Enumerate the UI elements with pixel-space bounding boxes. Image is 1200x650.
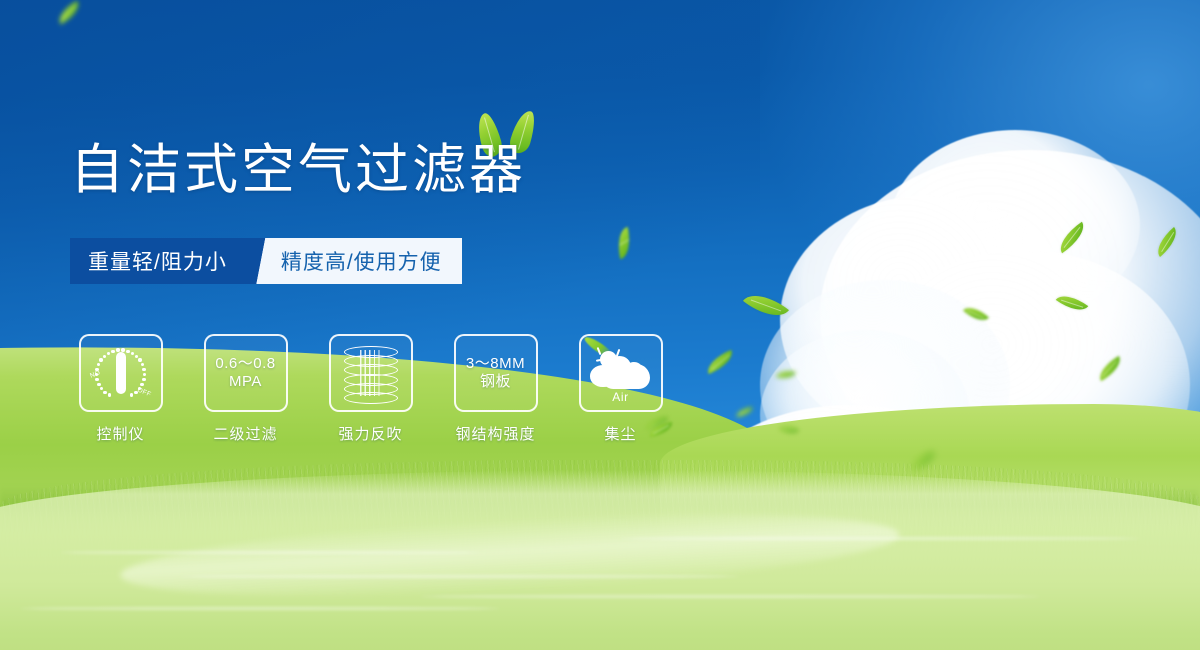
grass-streak <box>20 607 500 610</box>
feature-list: NO OFF 控制仪 0.6～0.8 MPA 二级过滤 强力反吹 <box>70 334 671 444</box>
dial-tick-icon <box>143 373 146 376</box>
feature-box: 3～8MM 钢板 <box>454 334 538 412</box>
dial-tick-icon <box>97 363 100 366</box>
dial-tick-icon <box>141 363 144 366</box>
subtitle-bar: 重量轻/阻力小 精度高/使用方便 <box>70 238 462 284</box>
dial-tick-icon <box>140 383 143 386</box>
steel-value-line1: 3～8MM <box>466 355 525 373</box>
feature-label: 二级过滤 <box>213 423 277 444</box>
filter-stack-icon <box>343 344 399 402</box>
filter-ring-icon <box>344 392 398 404</box>
dial-tick-icon <box>103 391 106 394</box>
air-label: Air <box>588 390 654 404</box>
dial-tick-icon <box>103 355 106 358</box>
dial-tick-icon <box>111 350 114 353</box>
dial-pointer-icon <box>116 352 126 394</box>
subtitle-diagonal-divider <box>249 238 275 284</box>
pressure-value-line1: 0.6～0.8 <box>215 355 275 373</box>
dial-tick-icon <box>95 378 98 381</box>
grass-streak <box>420 595 1040 598</box>
feature-item-back-blow[interactable]: 强力反吹 <box>320 334 421 444</box>
dial-tick-icon <box>138 358 141 361</box>
dial-tick-icon <box>121 348 124 351</box>
subtitle-left-text: 重量轻/阻力小 <box>70 238 249 284</box>
dial-tick-icon <box>116 348 119 351</box>
feature-box: Air <box>579 334 663 412</box>
dial-tick-icon <box>108 393 111 396</box>
promo-banner: 自洁式空气过滤器 重量轻/阻力小 精度高/使用方便 NO OFF 控制仪 0.6… <box>0 0 1200 650</box>
air-cloud-icon: Air <box>588 345 654 401</box>
steel-value-line2: 钢板 <box>480 373 511 391</box>
feature-box: 0.6～0.8 MPA <box>204 334 288 412</box>
dial-tick-icon <box>142 378 145 381</box>
grass-streak <box>620 537 1140 540</box>
control-dial-icon: NO OFF <box>90 344 152 402</box>
dial-tick-icon <box>97 383 100 386</box>
feature-label: 集尘 <box>604 423 636 444</box>
feature-box <box>329 334 413 412</box>
dial-tick-icon <box>107 352 110 355</box>
dial-tick-icon <box>134 391 137 394</box>
cloud-body-icon <box>602 364 650 389</box>
dial-tick-icon <box>126 350 129 353</box>
dial-tick-icon <box>100 387 103 390</box>
dial-tick-icon <box>130 393 133 396</box>
pressure-value-line2: MPA <box>229 373 262 391</box>
feature-item-dust-collection[interactable]: Air 集尘 <box>570 334 671 444</box>
feature-label: 控制仪 <box>96 423 144 444</box>
feature-item-two-stage-filter[interactable]: 0.6～0.8 MPA 二级过滤 <box>195 334 296 444</box>
feature-label: 钢结构强度 <box>455 423 535 444</box>
page-title: 自洁式空气过滤器 <box>70 143 526 197</box>
dial-tick-icon <box>131 352 134 355</box>
dial-tick-icon <box>95 368 98 371</box>
feature-item-steel-strength[interactable]: 3～8MM 钢板 钢结构强度 <box>445 334 546 444</box>
subtitle-right-text: 精度高/使用方便 <box>275 238 462 284</box>
dial-tick-icon <box>99 358 102 361</box>
grass-streak <box>180 575 740 578</box>
feature-label: 强力反吹 <box>338 423 402 444</box>
feature-item-controller[interactable]: NO OFF 控制仪 <box>70 334 171 444</box>
dial-tick-icon <box>142 368 145 371</box>
feature-box: NO OFF <box>79 334 163 412</box>
grass-streak <box>60 551 480 554</box>
